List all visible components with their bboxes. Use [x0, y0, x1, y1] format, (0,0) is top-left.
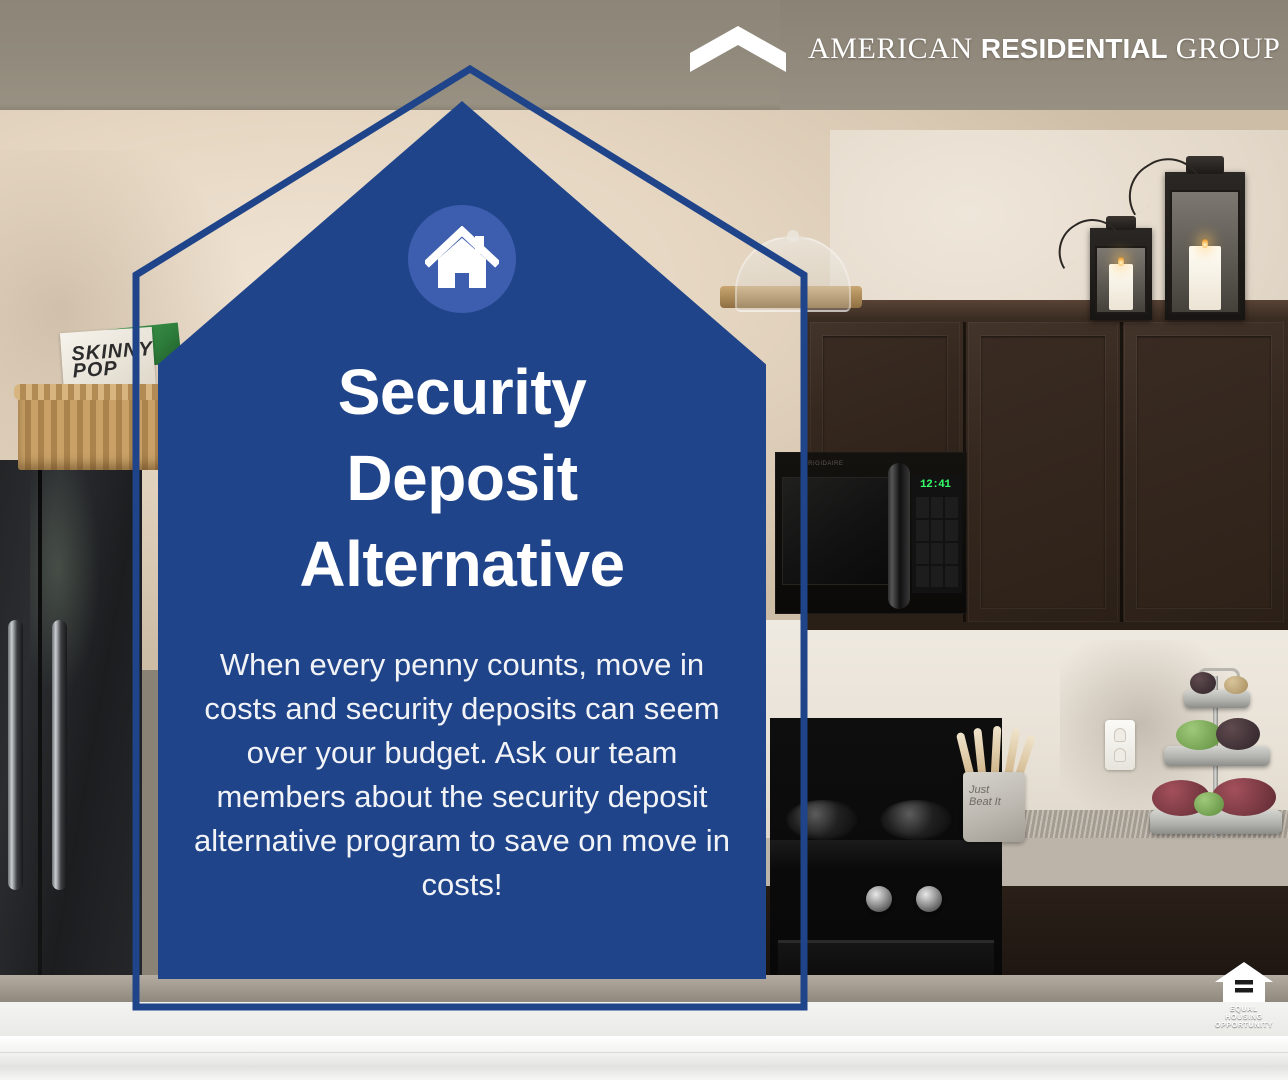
window-sill-upper	[0, 1002, 1288, 1038]
stove-burner	[786, 800, 860, 840]
brand-name-part2: RESIDENTIAL	[981, 33, 1168, 64]
chevron-roof-icon	[690, 26, 786, 72]
window-sill-lower	[0, 1036, 1288, 1080]
microwave-clock-display: 12:41	[920, 479, 951, 491]
headline-line-2: Deposit	[299, 435, 624, 521]
microwave-window	[782, 477, 890, 585]
brand-wordmark: AMERICAN RESIDENTIAL GROUP	[808, 32, 1280, 66]
cabinet-door	[1124, 322, 1284, 622]
stove-cooktop	[770, 840, 1002, 870]
refrigerator-handle	[8, 620, 23, 890]
counter-front-edge	[0, 975, 1288, 1005]
house-icon-badge	[408, 205, 516, 313]
sill-groove	[0, 1052, 1288, 1053]
refrigerator-handle	[52, 620, 67, 890]
body-paragraph: When every penny counts, move in costs a…	[190, 643, 735, 907]
cabinet-door	[968, 322, 1118, 622]
lantern-small	[1090, 228, 1152, 320]
refrigerator-door-seam	[38, 462, 42, 1018]
tray-produce	[1190, 672, 1216, 694]
candle-flame	[1202, 238, 1208, 248]
brand-name-part3: GROUP	[1168, 32, 1281, 65]
brand-name-part1: AMERICAN	[808, 32, 981, 65]
utensil-crock: Just Beat It	[963, 772, 1025, 842]
headline-line-3: Alternative	[299, 521, 624, 607]
candle	[1189, 246, 1221, 310]
tray-produce	[1194, 792, 1224, 816]
house-panel-content: Security Deposit Alternative When every …	[158, 101, 766, 979]
candle	[1109, 264, 1133, 310]
tray-produce	[1216, 718, 1260, 750]
eho-line-1: EQUAL HOUSING	[1212, 1006, 1276, 1022]
wall-outlet	[1105, 720, 1135, 770]
lantern-large	[1165, 172, 1245, 320]
microwave-control-panel: 12:41	[912, 475, 962, 593]
candle-flame	[1118, 256, 1124, 266]
page-title: Security Deposit Alternative	[299, 349, 624, 607]
cabinet-gap	[1120, 322, 1123, 622]
brand-logo[interactable]: AMERICAN RESIDENTIAL GROUP	[690, 26, 1280, 72]
headline-line-1: Security	[299, 349, 624, 435]
tiered-serving-tray	[1150, 668, 1282, 846]
crock-label: Just Beat It	[969, 784, 1011, 808]
equal-housing-opportunity-icon	[1213, 960, 1275, 1004]
microwave-keypad	[916, 497, 958, 587]
microwave-handle	[888, 463, 910, 609]
tray-tier	[1164, 746, 1270, 766]
eho-line-2: OPPORTUNITY	[1212, 1022, 1276, 1030]
appliance-brand-label: FRIGIDAIRE	[804, 461, 843, 467]
tray-produce	[1224, 676, 1248, 694]
marketing-poster: FRIGIDAIRE 12:41 SKINNY POP	[0, 0, 1288, 1080]
woven-basket	[18, 388, 170, 470]
stove-knob	[916, 886, 942, 912]
stove-knob	[866, 886, 892, 912]
microwave: FRIGIDAIRE 12:41	[775, 452, 967, 614]
stove-burner	[880, 800, 954, 840]
snack-bag-label: SKINNY POP	[71, 341, 155, 381]
house-icon	[425, 226, 499, 292]
equal-housing-text: EQUAL HOUSING OPPORTUNITY	[1212, 1006, 1276, 1030]
equal-housing-opportunity-logo: EQUAL HOUSING OPPORTUNITY	[1212, 960, 1276, 1030]
